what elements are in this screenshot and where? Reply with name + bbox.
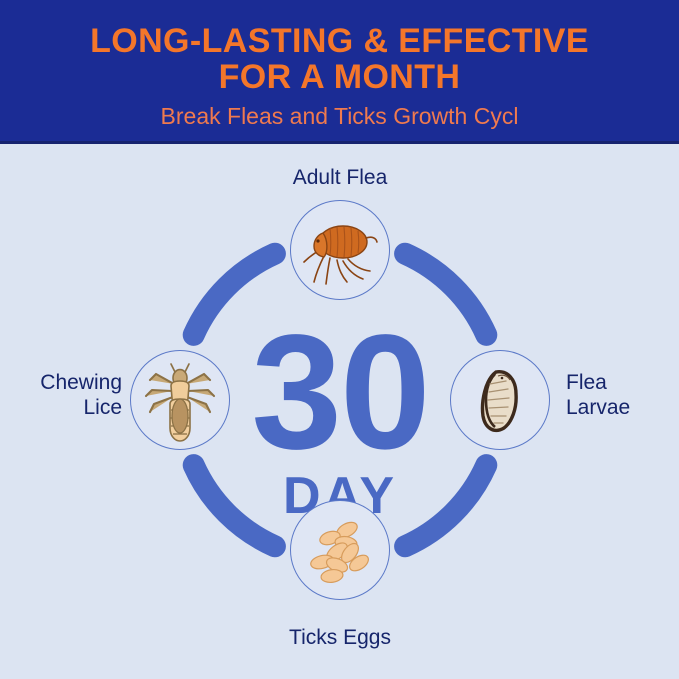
node-adult-flea-label: Adult Flea [240,165,440,190]
chewing-lice-icon [130,350,230,450]
node-ticks-eggs-label: Ticks Eggs [240,625,440,650]
node-adult-flea[interactable] [290,200,390,300]
node-ticks-eggs[interactable] [290,500,390,600]
ring-arc-bottom-right [405,465,486,546]
page-title: LONG-LASTING & EFFECTIVE FOR A MONTH [0,23,679,95]
lifecycle-diagram: 30 DAY [0,144,679,679]
node-chewing-lice[interactable] [130,350,230,450]
page-title-line-2: FOR A MONTH [0,59,679,95]
node-flea-larvae[interactable] [450,350,550,450]
node-flea-larvae-label: Flea Larvae [566,370,676,420]
ticks-eggs-icon [290,500,390,600]
header-banner: LONG-LASTING & EFFECTIVE FOR A MONTH Bre… [0,0,679,144]
node-chewing-lice-label: Chewing Lice [8,370,122,420]
page-title-line-1: LONG-LASTING & EFFECTIVE [90,22,589,60]
adult-flea-icon [290,200,390,300]
ring-arc-top-left [194,254,275,335]
page-subtitle: Break Fleas and Ticks Growth Cycl [0,103,679,129]
infographic-canvas: LONG-LASTING & EFFECTIVE FOR A MONTH Bre… [0,0,679,679]
ring-arc-bottom-left [194,465,275,546]
flea-larvae-icon [450,350,550,450]
ring-arc-top-right [405,254,486,335]
